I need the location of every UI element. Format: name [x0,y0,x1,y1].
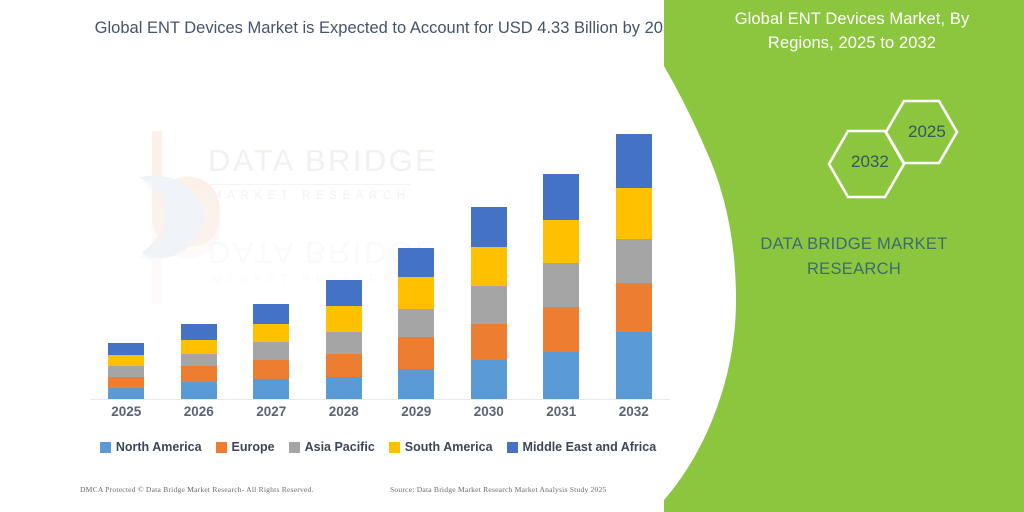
bar-segment-2030-south-america[interactable] [471,247,507,286]
bar-2029[interactable] [398,248,434,399]
bar-segment-2029-europe[interactable] [398,337,434,369]
bar-segment-2029-south-america[interactable] [398,277,434,309]
x-axis-label-2028: 2028 [314,404,374,419]
bar-segment-2028-south-america[interactable] [326,306,362,332]
page-title: Global ENT Devices Market is Expected to… [88,16,688,42]
regions-panel: Global ENT Devices Market, By Regions, 2… [664,0,1024,512]
bar-segment-2026-north-america[interactable] [181,382,217,399]
x-axis-label-2031: 2031 [531,404,591,419]
bar-segment-2032-north-america[interactable] [616,332,652,399]
bar-segment-2027-europe[interactable] [253,360,289,379]
x-axis-labels: 20252026202720282029203020312032 [90,404,670,426]
legend-swatch-icon [100,442,111,453]
bar-2028[interactable] [326,280,362,399]
bar-2030[interactable] [471,207,507,399]
hexagon-2025-label: 2025 [908,122,946,142]
stacked-bar-chart [90,110,670,400]
bar-2031[interactable] [543,174,579,399]
legend-swatch-icon [507,442,518,453]
legend-item-europe[interactable]: Europe [216,440,275,454]
x-axis-label-2026: 2026 [169,404,229,419]
bar-segment-2031-south-america[interactable] [543,220,579,263]
hexagon-2032-label: 2032 [851,152,889,172]
hexagon-group: 2025 2032 [744,95,994,200]
legend-item-south-america[interactable]: South America [389,440,493,454]
infographic-root: Global ENT Devices Market is Expected to… [0,0,1024,512]
panel-title: Global ENT Devices Market, By Regions, 2… [702,8,1002,56]
bar-segment-2032-middle-east-and-africa[interactable] [616,134,652,188]
legend-swatch-icon [216,442,227,453]
bar-segment-2028-middle-east-and-africa[interactable] [326,280,362,306]
bar-segment-2031-north-america[interactable] [543,352,579,399]
bar-segment-2025-north-america[interactable] [108,388,144,399]
panel-brand-line1: DATA BRIDGE MARKET [704,232,1004,257]
x-axis-label-2027: 2027 [241,404,301,419]
legend-label: Europe [232,440,275,454]
legend-swatch-icon [389,442,400,453]
x-axis-label-2025: 2025 [96,404,156,419]
legend-item-north-america[interactable]: North America [100,440,202,454]
bar-segment-2030-north-america[interactable] [471,360,507,399]
bar-segment-2028-europe[interactable] [326,354,362,377]
bar-segment-2025-south-america[interactable] [108,355,144,366]
bar-segment-2031-europe[interactable] [543,307,579,352]
bar-segment-2030-europe[interactable] [471,324,507,360]
x-axis-label-2030: 2030 [459,404,519,419]
bar-segment-2027-south-america[interactable] [253,324,289,342]
footer-source: Source: Data Bridge Market Research Mark… [390,485,607,494]
footer-copyright: DMCA Protected © Data Bridge Market Rese… [80,485,314,494]
bar-segment-2026-south-america[interactable] [181,340,217,354]
bar-segment-2027-north-america[interactable] [253,379,289,399]
bar-segment-2029-north-america[interactable] [398,369,434,399]
bar-2025[interactable] [108,343,144,399]
bar-segment-2028-north-america[interactable] [326,377,362,399]
bar-2032[interactable] [616,134,652,399]
bar-segment-2026-middle-east-and-africa[interactable] [181,324,217,340]
legend-item-asia-pacific[interactable]: Asia Pacific [289,440,375,454]
bar-segment-2032-asia-pacific[interactable] [616,239,652,283]
bar-segment-2031-asia-pacific[interactable] [543,263,579,307]
bar-2026[interactable] [181,324,217,399]
bar-segment-2030-asia-pacific[interactable] [471,286,507,324]
bar-segment-2026-europe[interactable] [181,366,217,382]
chart-baseline [90,399,670,400]
bar-segment-2027-middle-east-and-africa[interactable] [253,304,289,324]
legend-label: Middle East and Africa [523,440,657,454]
bar-segment-2032-europe[interactable] [616,283,652,332]
bar-segment-2028-asia-pacific[interactable] [326,332,362,354]
panel-brand-text: DATA BRIDGE MARKET RESEARCH [704,232,1004,282]
bar-segment-2027-asia-pacific[interactable] [253,342,289,360]
bar-segment-2030-middle-east-and-africa[interactable] [471,207,507,247]
x-axis-label-2029: 2029 [386,404,446,419]
legend-label: South America [405,440,493,454]
x-axis-label-2032: 2032 [604,404,664,419]
bar-segment-2025-asia-pacific[interactable] [108,366,144,377]
bar-segment-2026-asia-pacific[interactable] [181,354,217,366]
bar-2027[interactable] [253,304,289,399]
legend-swatch-icon [289,442,300,453]
bar-segment-2029-asia-pacific[interactable] [398,309,434,337]
bar-segment-2032-south-america[interactable] [616,188,652,239]
bar-segment-2031-middle-east-and-africa[interactable] [543,174,579,220]
legend-item-middle-east-and-africa[interactable]: Middle East and Africa [507,440,657,454]
chart-legend: North AmericaEuropeAsia PacificSouth Ame… [88,437,668,457]
bar-segment-2025-middle-east-and-africa[interactable] [108,343,144,355]
panel-brand-line2: RESEARCH [704,257,1004,282]
bar-segment-2025-europe[interactable] [108,377,144,388]
bar-segment-2029-middle-east-and-africa[interactable] [398,248,434,277]
legend-label: North America [116,440,202,454]
legend-label: Asia Pacific [305,440,375,454]
